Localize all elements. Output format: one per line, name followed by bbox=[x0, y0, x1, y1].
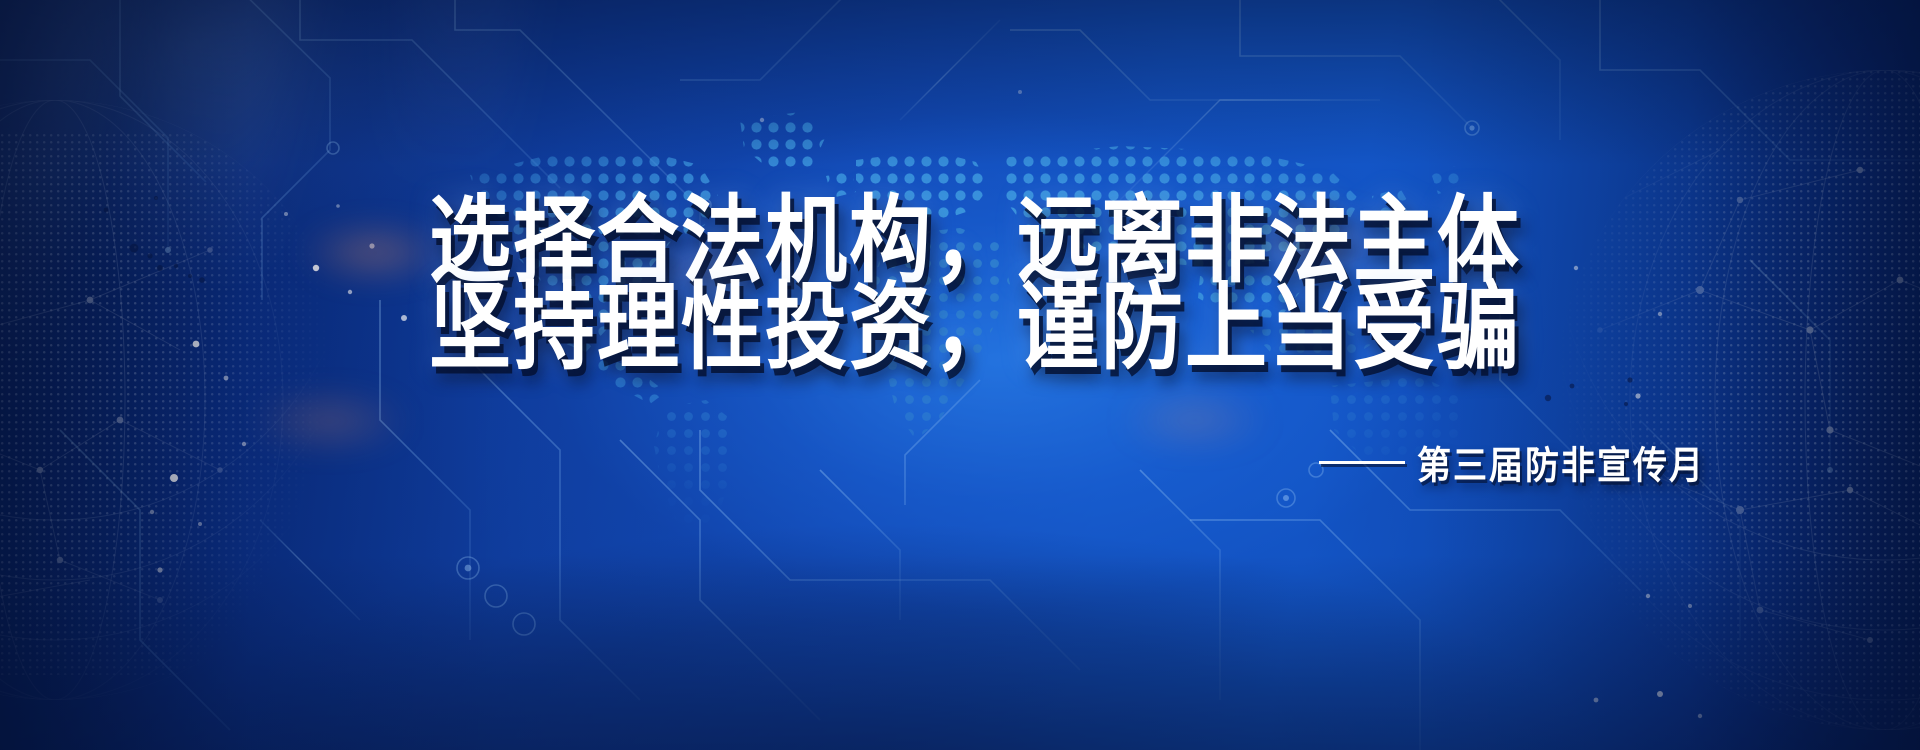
em-dash-rule-icon bbox=[1319, 461, 1405, 464]
attribution-block: 第三届防非宣传月 bbox=[1319, 438, 1705, 487]
attribution-text: 第三届防非宣传月 bbox=[1417, 435, 1705, 490]
promo-banner: 选择合法机构，远离非法主体 坚持理性投资，谨防上当受骗 第三届防非宣传月 bbox=[0, 0, 1920, 750]
headline-block: 选择合法机构，远离非法主体 坚持理性投资，谨防上当受骗 bbox=[0, 186, 1920, 368]
headline-line-2: 坚持理性投资，谨防上当受骗 bbox=[30, 273, 1920, 383]
